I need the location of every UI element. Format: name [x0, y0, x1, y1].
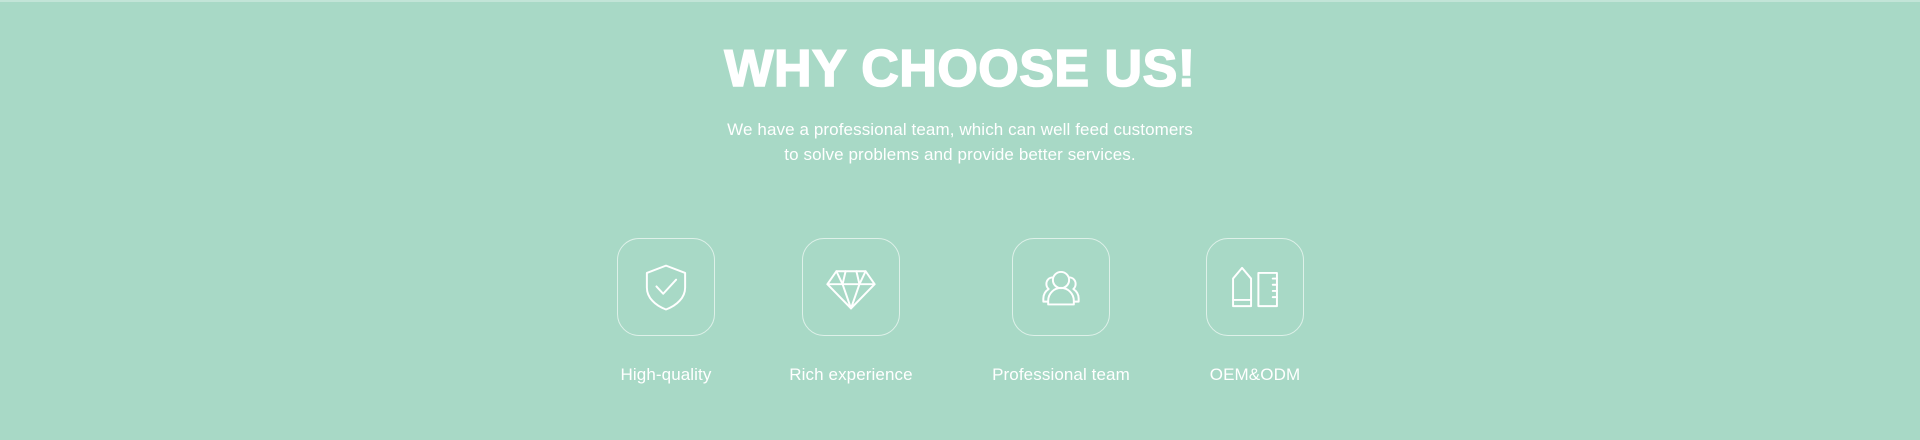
feature-item-oem-odm[interactable]: OEM&ODM [1155, 238, 1355, 385]
subtitle-line-1: We have a professional team, which can w… [0, 117, 1920, 142]
section-subtitle: We have a professional team, which can w… [0, 117, 1920, 167]
icon-box [802, 238, 900, 336]
why-choose-us-section: WHY CHOOSE US! We have a professional te… [0, 0, 1920, 440]
shield-check-icon [639, 260, 693, 314]
feature-label: Professional team [961, 365, 1161, 385]
people-group-icon [1034, 260, 1088, 314]
subtitle-line-2: to solve problems and provide better ser… [0, 142, 1920, 167]
diamond-gem-icon [824, 260, 878, 314]
icon-box [1206, 238, 1304, 336]
pencil-ruler-icon [1228, 260, 1282, 314]
heading-block: WHY CHOOSE US! We have a professional te… [0, 36, 1920, 167]
page-title: WHY CHOOSE US! [0, 36, 1920, 102]
feature-item-rich-experience[interactable]: Rich experience [751, 238, 951, 385]
icon-box [1012, 238, 1110, 336]
icon-box [617, 238, 715, 336]
section-top-divider [0, 0, 1920, 2]
feature-label: OEM&ODM [1155, 365, 1355, 385]
feature-item-high-quality[interactable]: High-quality [566, 238, 766, 385]
feature-item-professional-team[interactable]: Professional team [961, 238, 1161, 385]
features-row: High-quality Rich experience [0, 238, 1920, 398]
feature-label: Rich experience [751, 365, 951, 385]
feature-label: High-quality [566, 365, 766, 385]
